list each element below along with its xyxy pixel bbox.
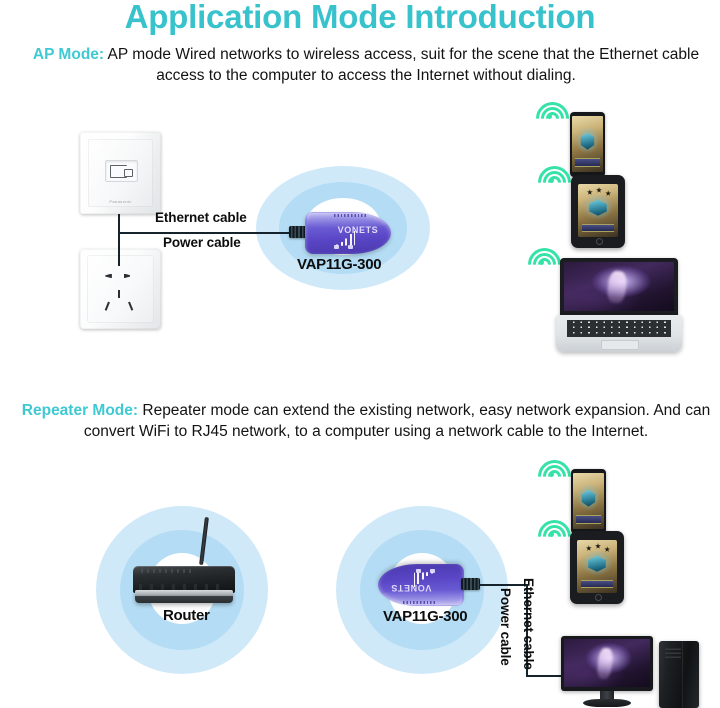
tower-vent xyxy=(665,646,681,658)
socket-pin-right xyxy=(124,274,131,279)
wifi-dot xyxy=(539,260,544,265)
repeater-client-tablet xyxy=(570,531,624,604)
ap-vap11g-device: VONETS xyxy=(305,212,391,254)
card-gem xyxy=(581,133,595,150)
card-banner xyxy=(582,224,614,232)
repeater-cable-run-top xyxy=(479,584,527,586)
ap-mode-label: AP Mode: xyxy=(33,46,104,63)
wall-ethernet-faceplate: Panasonic xyxy=(80,132,161,214)
game-card-art xyxy=(572,116,603,172)
router-base xyxy=(135,590,233,602)
card-star xyxy=(587,189,593,195)
faceplate-bezel: Panasonic xyxy=(88,139,153,206)
device-body: VONETS xyxy=(378,564,464,606)
repeater-mode-paragraph: Repeater Mode: Repeater mode can extend … xyxy=(16,400,716,442)
device-led-power xyxy=(430,569,435,573)
monitor-stand-foot xyxy=(583,699,631,707)
game-card-art xyxy=(578,184,618,237)
wifi-dot xyxy=(549,178,554,183)
socket-pin-live xyxy=(105,302,110,311)
game-card-art xyxy=(577,540,617,593)
card-star xyxy=(595,543,601,549)
repeater-client-monitor xyxy=(561,636,653,708)
ap-mode-description: AP mode Wired networks to wireless acces… xyxy=(108,46,700,84)
tablet-screen xyxy=(577,540,617,593)
card-gem xyxy=(589,200,607,216)
ap-client-phone xyxy=(570,112,605,177)
ap-ethernet-cable-label: Ethernet cable xyxy=(155,210,247,225)
card-banner xyxy=(576,515,601,524)
repeater-mode-label: Repeater Mode: xyxy=(22,402,138,419)
ap-horizontal-cable xyxy=(118,232,300,234)
tower-panel-seam xyxy=(682,641,683,708)
device-led-link xyxy=(416,569,421,573)
socket-face xyxy=(87,255,153,322)
socket-pin-earth xyxy=(118,290,120,297)
device-signal-bars-icon xyxy=(336,231,355,245)
power-socket xyxy=(80,249,161,329)
repeater-cable-run-bottom xyxy=(526,675,562,677)
repeater-device-plug xyxy=(461,578,480,590)
laptop-keyboard[interactable] xyxy=(567,320,670,337)
game-card-art xyxy=(573,473,604,529)
card-gem xyxy=(588,556,606,572)
socket-pin-neutral xyxy=(129,302,134,311)
card-banner xyxy=(575,158,600,167)
device-vents xyxy=(334,214,367,217)
repeater-power-cable-label: Power cable xyxy=(498,588,513,666)
ap-vertical-cable xyxy=(118,214,120,266)
router-vent-grill xyxy=(141,569,194,573)
router-caption: Router xyxy=(163,607,210,624)
laptop-deck xyxy=(556,315,682,352)
tablet-home-button[interactable] xyxy=(595,594,602,601)
card-star xyxy=(596,187,602,193)
ap-client-laptop xyxy=(556,258,682,352)
laptop-screen xyxy=(564,262,674,311)
monitor-panel xyxy=(561,636,653,691)
card-banner xyxy=(581,580,613,588)
card-star xyxy=(605,190,611,196)
repeater-ethernet-cable-label: Ethernet cable xyxy=(521,578,536,670)
card-star xyxy=(604,546,610,552)
page-title: Application Mode Introduction xyxy=(0,0,720,36)
tablet-home-button[interactable] xyxy=(596,238,603,245)
socket-pin-left xyxy=(105,274,112,279)
rj45-tab xyxy=(124,169,132,177)
poster-canvas: Application Mode Introduction AP Mode: A… xyxy=(0,0,720,708)
monitor-screen xyxy=(564,639,650,687)
faceplate-brand: Panasonic xyxy=(88,199,153,204)
wifi-dot xyxy=(549,532,554,537)
ap-device-caption: VAP11G-300 xyxy=(297,256,381,273)
laptop-trackpad[interactable] xyxy=(601,340,638,351)
wifi-dot xyxy=(547,114,552,119)
device-signal-bars-icon xyxy=(414,572,433,586)
rj45-port-icon xyxy=(105,160,138,182)
wifi-dot xyxy=(549,472,554,477)
tablet-screen xyxy=(578,184,618,237)
repeater-device-caption: VAP11G-300 xyxy=(383,608,467,625)
game-scene-art xyxy=(564,639,650,687)
laptop-lid xyxy=(560,258,678,316)
phone-screen xyxy=(572,116,603,172)
card-star xyxy=(586,545,592,551)
ap-client-tablet xyxy=(571,175,625,248)
repeater-client-pc-tower xyxy=(659,641,699,708)
card-gem xyxy=(582,490,596,507)
phone-screen xyxy=(573,473,604,529)
repeater-mode-description: Repeater mode can extend the existing ne… xyxy=(84,402,710,440)
device-vents xyxy=(402,601,435,604)
repeater-router xyxy=(133,552,235,614)
game-scene-art xyxy=(564,262,674,311)
repeater-vap11g-device: VONETS xyxy=(378,564,464,606)
device-body: VONETS xyxy=(305,212,391,254)
ap-power-cable-label: Power cable xyxy=(163,235,241,250)
device-led-power xyxy=(334,245,339,249)
ap-mode-paragraph: AP Mode: AP mode Wired networks to wirel… xyxy=(16,44,716,86)
repeater-client-phone xyxy=(571,469,606,534)
device-led-link xyxy=(348,245,353,249)
